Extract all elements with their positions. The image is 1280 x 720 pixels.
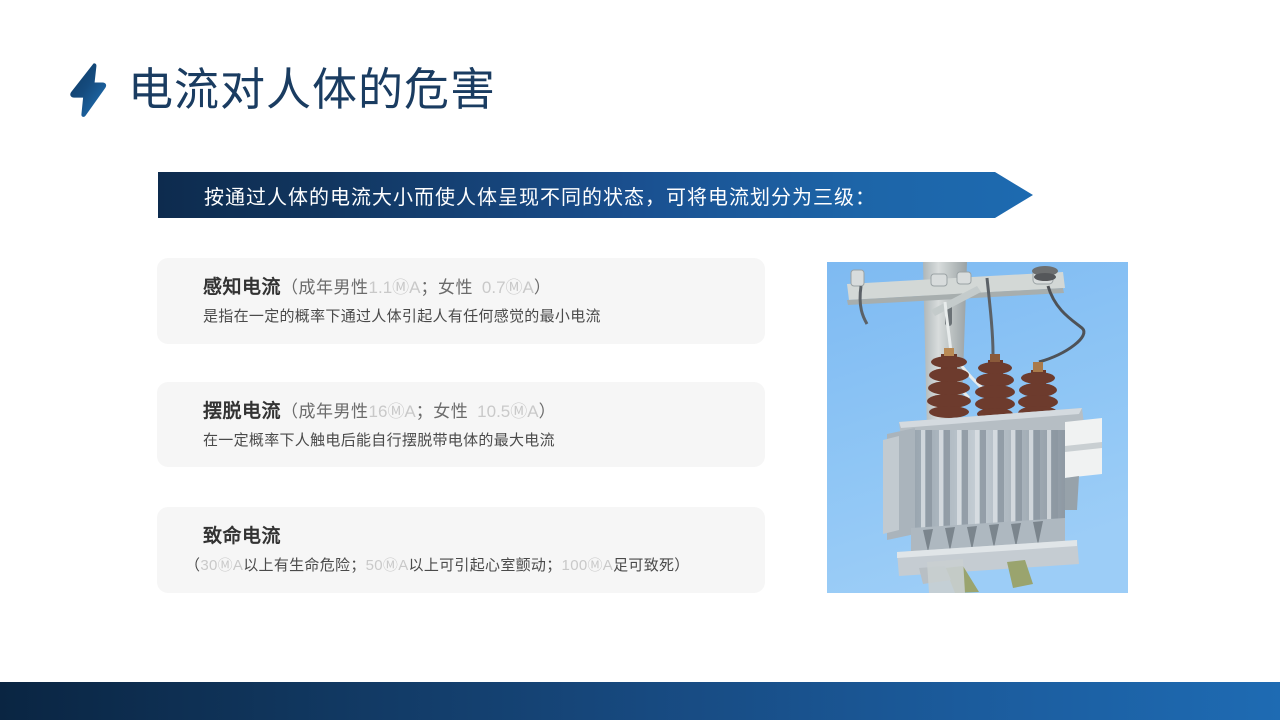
card-label-female: 女性 [433, 402, 468, 421]
card-separator: ； [421, 278, 439, 297]
section-banner: 按通过人体的电流大小而使人体呈现不同的状态，可将电流划分为三级： [158, 172, 1033, 218]
body-open-paren: （ [185, 557, 200, 574]
transformer-illustration [827, 262, 1128, 593]
card-title: 感知电流 [203, 277, 281, 298]
info-card-letgo-current: 摆脱电流（成年男性16ⓂA；女性 10.5ⓂA） 在一定概率下人触电后能自行摆脱… [157, 382, 765, 467]
body-text-2: 以上可引起心室颤动； [409, 557, 562, 574]
card-separator: ； [416, 402, 434, 421]
card-open-paren: （成年男性 [281, 278, 369, 297]
body-unit-50: ⓂA [383, 557, 409, 574]
card-body-text: 是指在一定的概率下通过人体引起人有任何感觉的最小电流 [203, 306, 737, 329]
info-card-perception-current: 感知电流（成年男性1.1ⓂA；女性 0.7ⓂA） 是指在一定的概率下通过人体引起… [157, 258, 765, 344]
body-text-3: 足可致死） [613, 557, 690, 574]
card-heading: 感知电流（成年男性1.1ⓂA；女性 0.7ⓂA） [203, 276, 737, 300]
card-close-paren: ） [539, 402, 557, 421]
card-open-paren: （成年男性 [281, 402, 369, 421]
card-value-female: 10.5 [477, 402, 510, 421]
transformer-photo [827, 262, 1128, 593]
card-title: 致命电流 [203, 526, 281, 547]
card-label-female: 女性 [438, 278, 473, 297]
body-unit-100: ⓂA [587, 557, 613, 574]
card-title: 摆脱电流 [203, 401, 281, 422]
card-unit-male: ⓂA [387, 402, 415, 421]
card-value-male: 1.1 [369, 278, 393, 297]
card-heading: 摆脱电流（成年男性16ⓂA；女性 10.5ⓂA） [203, 400, 737, 424]
card-unit-female: ⓂA [510, 402, 538, 421]
card-unit-male: ⓂA [392, 278, 420, 297]
page-title-text: 电流对人体的危害 [128, 68, 496, 113]
banner-text: 按通过人体的电流大小而使人体呈现不同的状态，可将电流划分为三级： [204, 172, 876, 218]
footer-bar [0, 682, 1280, 720]
body-value-50: 50 [366, 557, 383, 574]
card-heading: 致命电流 [203, 525, 737, 549]
body-unit-30: ⓂA [218, 557, 244, 574]
info-card-lethal-current: 致命电流 （30ⓂA以上有生命危险；50ⓂA以上可引起心室颤动；100ⓂA足可致… [157, 507, 765, 593]
body-value-30: 30 [200, 557, 217, 574]
card-body-text: 在一定概率下人触电后能自行摆脱带电体的最大电流 [203, 430, 737, 453]
lightning-bolt-icon [68, 62, 108, 118]
body-text-1: 以上有生命危险； [243, 557, 365, 574]
card-value-female: 0.7 [482, 278, 506, 297]
card-value-male: 16 [369, 402, 388, 421]
card-close-paren: ） [534, 278, 552, 297]
body-value-100: 100 [562, 557, 588, 574]
card-unit-female: ⓂA [506, 278, 534, 297]
card-body-text: （30ⓂA以上有生命危险；50ⓂA以上可引起心室颤动；100ⓂA足可致死） [185, 555, 737, 578]
slide-root: 电流对人体的危害 按通过人体的电流大小而使人体呈现不同的状态，可将电流划分为三级… [0, 0, 1280, 720]
page-title: 电流对人体的危害 [68, 62, 496, 118]
